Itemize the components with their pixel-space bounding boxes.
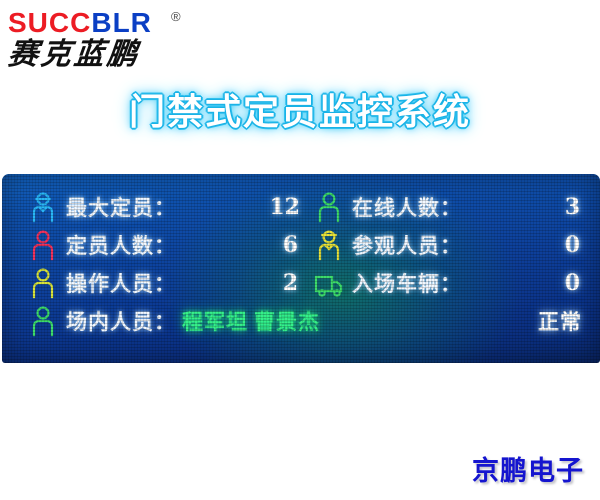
led-row-visitors: 参观人员： 0 bbox=[314, 226, 586, 264]
page-title: 门禁式定员监控系统 bbox=[0, 90, 600, 136]
led-label-operators: 操作人员： bbox=[66, 268, 176, 298]
brand-chinese-wordmark: 赛克蓝鹏 bbox=[6, 37, 142, 73]
registered-trademark-icon: ® bbox=[171, 10, 181, 23]
led-value-online-count: 3 bbox=[565, 194, 586, 220]
led-row-occupants: 场内人员： 程军坦 曹景杰 bbox=[28, 302, 304, 340]
led-label-assigned-count: 定员人数： bbox=[66, 230, 176, 260]
led-label-max-capacity: 最大定员： bbox=[66, 192, 176, 222]
led-occupant-name-2: 曹景杰 bbox=[254, 306, 320, 336]
person-cap-icon bbox=[314, 229, 344, 261]
page-root: SUCCBLR ® 赛克蓝鹏 门禁式定员监控系统 bbox=[0, 0, 600, 500]
person-icon bbox=[28, 229, 58, 261]
led-row-vehicles: 入场车辆： 0 bbox=[314, 264, 586, 302]
led-value-vehicles: 0 bbox=[565, 270, 586, 296]
led-label-occupants: 场内人员： bbox=[66, 306, 176, 336]
person-cap-icon bbox=[28, 191, 58, 223]
status-badge: 正常 bbox=[538, 302, 582, 340]
led-value-visitors: 0 bbox=[565, 232, 586, 258]
led-value-assigned-count: 6 bbox=[283, 232, 304, 258]
led-row-operators: 操作人员： 2 bbox=[28, 264, 304, 302]
led-value-operators: 2 bbox=[283, 270, 304, 296]
led-label-online-count: 在线人数： bbox=[352, 192, 462, 222]
led-value-max-capacity: 12 bbox=[269, 194, 304, 220]
person-icon bbox=[28, 305, 58, 337]
brand-latin-red: SUCC bbox=[8, 7, 91, 38]
person-icon bbox=[28, 267, 58, 299]
brand-latin-blue: BLR bbox=[91, 7, 152, 38]
led-row-max-capacity: 最大定员： 12 bbox=[28, 188, 304, 226]
brand-latin-wordmark: SUCCBLR bbox=[8, 8, 152, 38]
person-icon bbox=[314, 191, 344, 223]
led-label-visitors: 参观人员： bbox=[352, 230, 462, 260]
led-row-assigned-count: 定员人数： 6 bbox=[28, 226, 304, 264]
brand-logo: SUCCBLR ® 赛克蓝鹏 bbox=[8, 8, 228, 74]
led-content-grid: 最大定员： 12 定员人数： 6 bbox=[2, 174, 600, 363]
led-occupant-name-1: 程军坦 bbox=[182, 306, 248, 336]
led-label-vehicles: 入场车辆： bbox=[352, 268, 462, 298]
truck-icon bbox=[314, 267, 344, 299]
led-display-panel: 最大定员： 12 定员人数： 6 bbox=[2, 174, 600, 363]
led-row-online-count: 在线人数： 3 bbox=[314, 188, 586, 226]
footer-company-name: 京鹏电子 bbox=[472, 456, 584, 488]
